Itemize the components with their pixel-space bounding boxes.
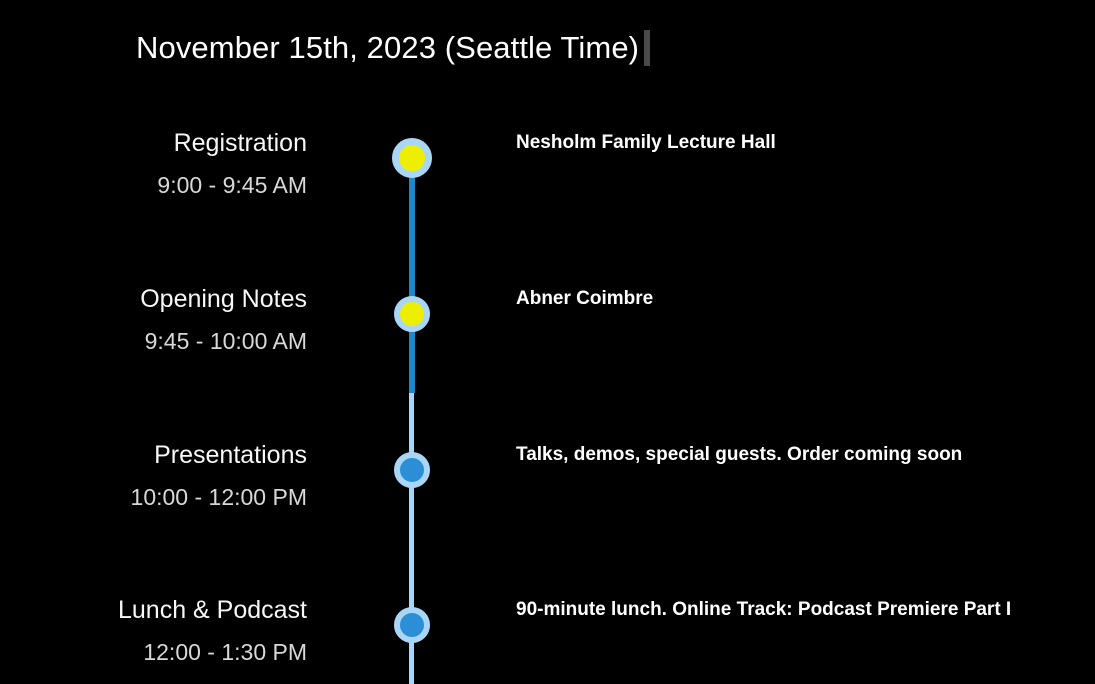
event-title: Opening Notes	[0, 284, 307, 314]
event-description: 90-minute lunch. Online Track: Podcast P…	[516, 595, 1011, 625]
event-title: Presentations	[0, 440, 307, 470]
event-time: 9:00 - 9:45 AM	[0, 170, 307, 200]
event-description: Nesholm Family Lecture Hall	[516, 128, 776, 158]
event-time: 9:45 - 10:00 AM	[0, 326, 307, 356]
timeline-marker-dot[interactable]	[394, 452, 430, 488]
timeline-event-row[interactable]: Presentations 10:00 - 12:00 PM Talks, de…	[0, 440, 1095, 536]
timeline-event-row[interactable]: Registration 9:00 - 9:45 AM Nesholm Fami…	[0, 128, 1095, 224]
page-title: November 15th, 2023 (Seattle Time)	[136, 24, 639, 72]
event-title: Lunch & Podcast	[0, 595, 307, 625]
event-label-group: Presentations 10:00 - 12:00 PM	[0, 440, 307, 512]
text-cursor-icon	[644, 30, 650, 66]
timeline-marker-dot[interactable]	[392, 138, 432, 178]
event-label-group: Lunch & Podcast 12:00 - 1:30 PM	[0, 595, 307, 667]
page-title-row: November 15th, 2023 (Seattle Time)	[136, 24, 650, 72]
event-time: 10:00 - 12:00 PM	[0, 482, 307, 512]
schedule-timeline: Registration 9:00 - 9:45 AM Nesholm Fami…	[0, 104, 1095, 684]
timeline-event-row[interactable]: Lunch & Podcast 12:00 - 1:30 PM 90-minut…	[0, 595, 1095, 684]
timeline-marker-dot[interactable]	[394, 607, 430, 643]
event-time: 12:00 - 1:30 PM	[0, 637, 307, 667]
event-description: Talks, demos, special guests. Order comi…	[516, 440, 962, 470]
event-label-group: Opening Notes 9:45 - 10:00 AM	[0, 284, 307, 356]
event-description: Abner Coimbre	[516, 284, 653, 314]
timeline-event-row[interactable]: Opening Notes 9:45 - 10:00 AM Abner Coim…	[0, 284, 1095, 380]
event-title: Registration	[0, 128, 307, 158]
timeline-marker-dot[interactable]	[394, 296, 430, 332]
event-label-group: Registration 9:00 - 9:45 AM	[0, 128, 307, 200]
